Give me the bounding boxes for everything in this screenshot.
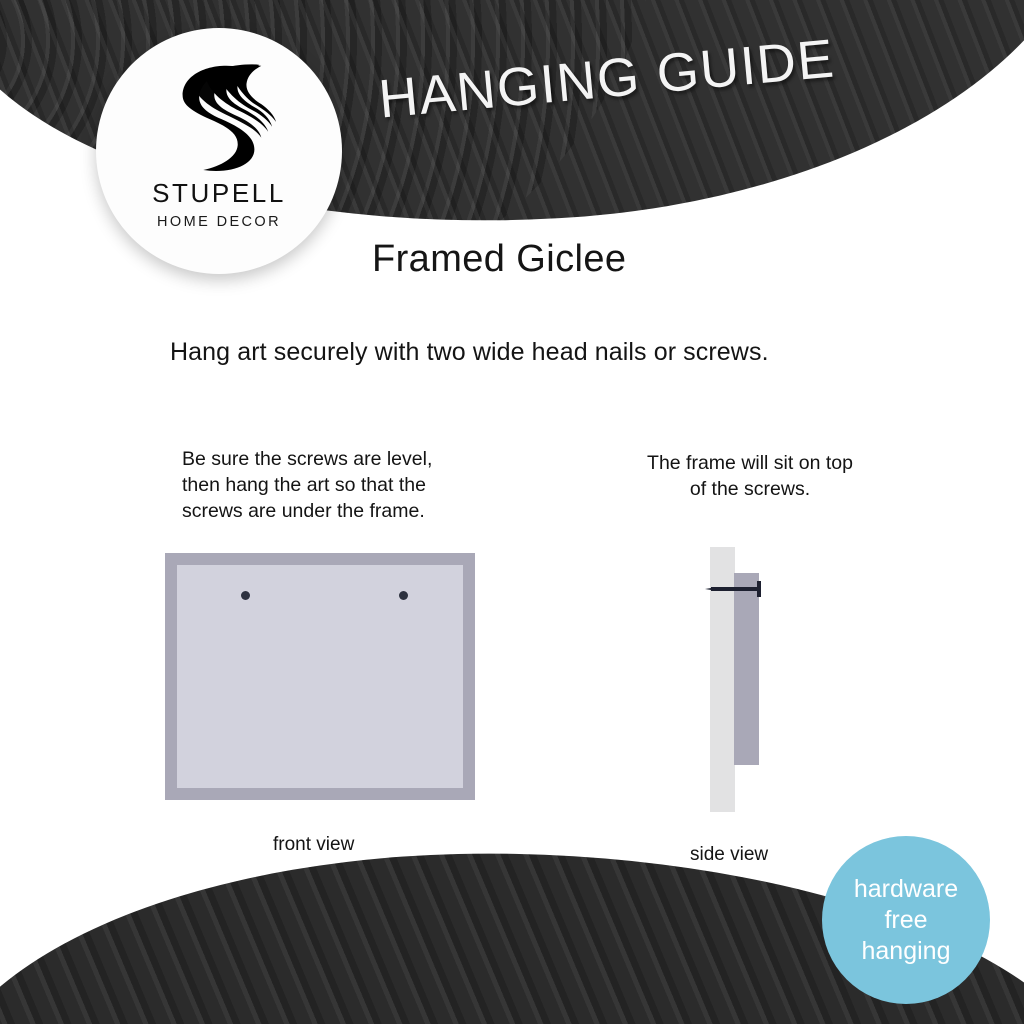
front-caption-line-1: Be sure the screws are level,	[182, 446, 482, 472]
brand-logo-badge: STUPELL HOME DECOR	[96, 28, 342, 274]
screw-dot-right-icon	[399, 591, 408, 600]
side-caption-line-2: of the screws.	[600, 476, 900, 502]
brand-tagline: HOME DECOR	[157, 214, 281, 230]
front-view-caption: Be sure the screws are level, then hang …	[182, 446, 482, 524]
hardware-free-hanging-badge: hardware free hanging	[822, 836, 990, 1004]
badge-line-1: hardware	[854, 874, 958, 905]
nail-head-icon	[757, 581, 761, 597]
side-caption-line-1: The frame will sit on top	[600, 450, 900, 476]
lead-instruction: Hang art securely with two wide head nai…	[170, 338, 769, 367]
nail-shaft-icon	[711, 587, 759, 591]
hanging-guide-page: HANGING GUIDE STUPELL HOME DECOR Framed …	[0, 0, 1024, 1024]
side-view-diagram	[700, 545, 790, 815]
badge-line-2: free	[884, 905, 927, 936]
frame-edge-strip	[734, 573, 759, 765]
front-view-diagram	[165, 553, 475, 800]
badge-line-3: hanging	[862, 936, 951, 967]
stupell-swoosh-icon	[160, 54, 278, 174]
side-view-caption: The frame will sit on top of the screws.	[600, 450, 900, 502]
screw-dot-left-icon	[241, 591, 250, 600]
frame-mat-area	[177, 565, 463, 788]
product-type-heading: Framed Giclee	[372, 238, 626, 281]
front-caption-line-3: screws are under the frame.	[182, 498, 482, 524]
brand-name: STUPELL	[152, 178, 286, 209]
front-caption-line-2: then hang the art so that the	[182, 472, 482, 498]
